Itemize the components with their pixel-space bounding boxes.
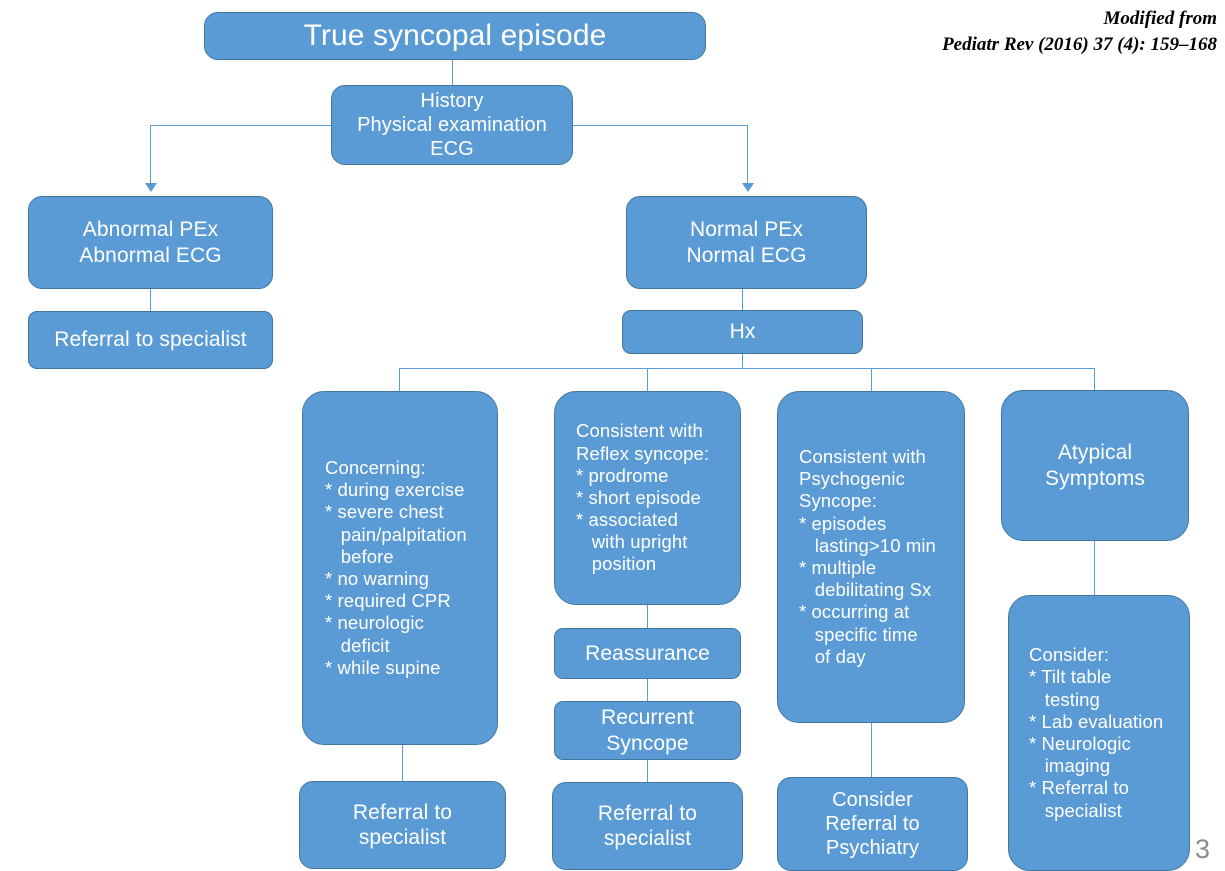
node-line: deficit [325,635,390,657]
node-line: * multiple [799,557,876,579]
node-line: specialist [1029,800,1122,822]
node-line: Psychogenic [799,468,905,490]
node-consider-referral-to-psychiatry[interactable]: Consider Referral to Psychiatry [777,777,968,871]
node-line: Abnormal ECG [79,243,221,268]
connector-psychogenic-to-psychiatry [871,723,872,777]
connector-history-left-drop [150,125,151,185]
node-line: * occurring at [799,601,909,623]
citation-line-2: Pediatr Rev (2016) 37 (4): 159–168 [942,32,1217,58]
connector-branch-drop-atypical [1094,368,1095,390]
connector-reflex-to-reassurance [647,605,648,628]
connector-normal-to-hx [742,288,743,310]
node-line: Syncope: [799,490,877,512]
node-line: Normal PEx [690,217,803,242]
node-line: * prodrome [576,465,669,487]
node-line: Syncope [606,731,688,756]
connector-hx-stub [742,353,743,368]
connector-branch-drop-concerning [399,368,400,391]
connector-reassurance-to-recurrent [647,679,648,701]
node-line: * while supine [325,657,441,679]
node-concerning-referral-to-specialist[interactable]: Referral to specialist [299,781,506,869]
node-line: * no warning [325,568,429,590]
node-line: * Tilt table [1029,666,1111,688]
node-line: True syncopal episode [304,18,607,54]
node-line: Symptoms [1045,466,1145,491]
node-line: Consider [832,788,913,812]
node-line: lasting>10 min [799,535,936,557]
node-history-physical-ecg[interactable]: History Physical examination ECG [331,85,573,165]
node-line: * severe chest [325,501,444,523]
node-line: Physical examination [357,113,547,137]
node-line: Consistent with [799,446,926,468]
node-line: * Lab evaluation [1029,711,1163,733]
node-line: of day [799,646,866,668]
node-line: Referral to [353,800,452,825]
node-line: Consistent with [576,420,703,442]
node-line: Referral to [825,812,919,836]
node-line: imaging [1029,755,1110,777]
node-reflex-syncope[interactable]: Consistent with Reflex syncope: * prodro… [554,391,741,605]
connector-history-right-drop [747,125,748,185]
node-line: Atypical [1058,440,1132,465]
connector-atypical-to-consider [1094,541,1095,595]
arrow-to-normal [742,183,754,192]
node-line: * short episode [576,487,701,509]
node-concerning[interactable]: Concerning: * during exercise * severe c… [302,391,498,745]
arrow-to-abnormal [145,183,157,192]
node-abnormal-pex-ecg[interactable]: Abnormal PEx Abnormal ECG [28,196,273,289]
node-hx[interactable]: Hx [622,310,863,354]
node-line: Referral to [598,801,697,826]
node-line: Concerning: [325,457,426,479]
connector-branch-distributor-bar [399,368,1095,369]
node-line: Psychiatry [826,836,919,860]
connector-title-to-history [452,60,453,85]
node-line: ECG [430,137,474,161]
node-line: debilitating Sx [799,579,931,601]
node-line: specific time [799,624,918,646]
node-normal-pex-ecg[interactable]: Normal PEx Normal ECG [626,196,867,289]
citation-line-1: Modified from [942,6,1217,32]
node-line: Recurrent [601,705,694,730]
node-line: Reflex syncope: [576,443,709,465]
connector-concerning-to-referral [402,745,403,781]
node-line: pain/palpitation [325,524,467,546]
node-line: History [421,89,484,113]
node-line: * Neurologic [1029,733,1131,755]
node-line: Referral to specialist [54,327,246,352]
node-line: * neurologic [325,612,424,634]
connector-recurrent-to-referral [647,760,648,782]
node-line: * required CPR [325,590,451,612]
node-psychogenic-syncope[interactable]: Consistent with Psychogenic Syncope: * e… [777,391,965,723]
node-recurrent-syncope[interactable]: Recurrent Syncope [554,701,741,760]
node-line: position [576,553,656,575]
node-line: Reassurance [585,641,710,666]
slide-number: 3 [1195,834,1225,865]
node-line: specialist [359,825,446,850]
node-line: Consider: [1029,644,1109,666]
node-reflex-referral-to-specialist[interactable]: Referral to specialist [552,782,743,870]
node-line: * associated [576,509,678,531]
node-line: * during exercise [325,479,465,501]
node-line: Abnormal PEx [83,217,218,242]
source-citation: Modified from Pediatr Rev (2016) 37 (4):… [942,6,1217,57]
node-line: before [325,546,394,568]
node-line: specialist [604,826,691,851]
connector-branch-drop-psychogenic [871,368,872,391]
node-line: * episodes [799,513,886,535]
node-reassurance[interactable]: Reassurance [554,628,741,679]
node-line: Normal ECG [686,243,806,268]
node-abnormal-referral-to-specialist[interactable]: Referral to specialist [28,311,273,369]
node-line: * Referral to [1029,777,1129,799]
connector-abnormal-to-referral [150,288,151,311]
node-atypical-symptoms[interactable]: Atypical Symptoms [1001,390,1189,541]
node-consider-workup[interactable]: Consider: * Tilt table testing * Lab eva… [1008,595,1190,871]
node-line: Hx [730,319,756,344]
node-line: with upright [576,531,688,553]
node-true-syncopal-episode[interactable]: True syncopal episode [204,12,706,60]
syncope-flowchart-slide: Modified from Pediatr Rev (2016) 37 (4):… [0,0,1225,871]
connector-branch-drop-reflex [647,368,648,391]
node-line: testing [1029,689,1100,711]
